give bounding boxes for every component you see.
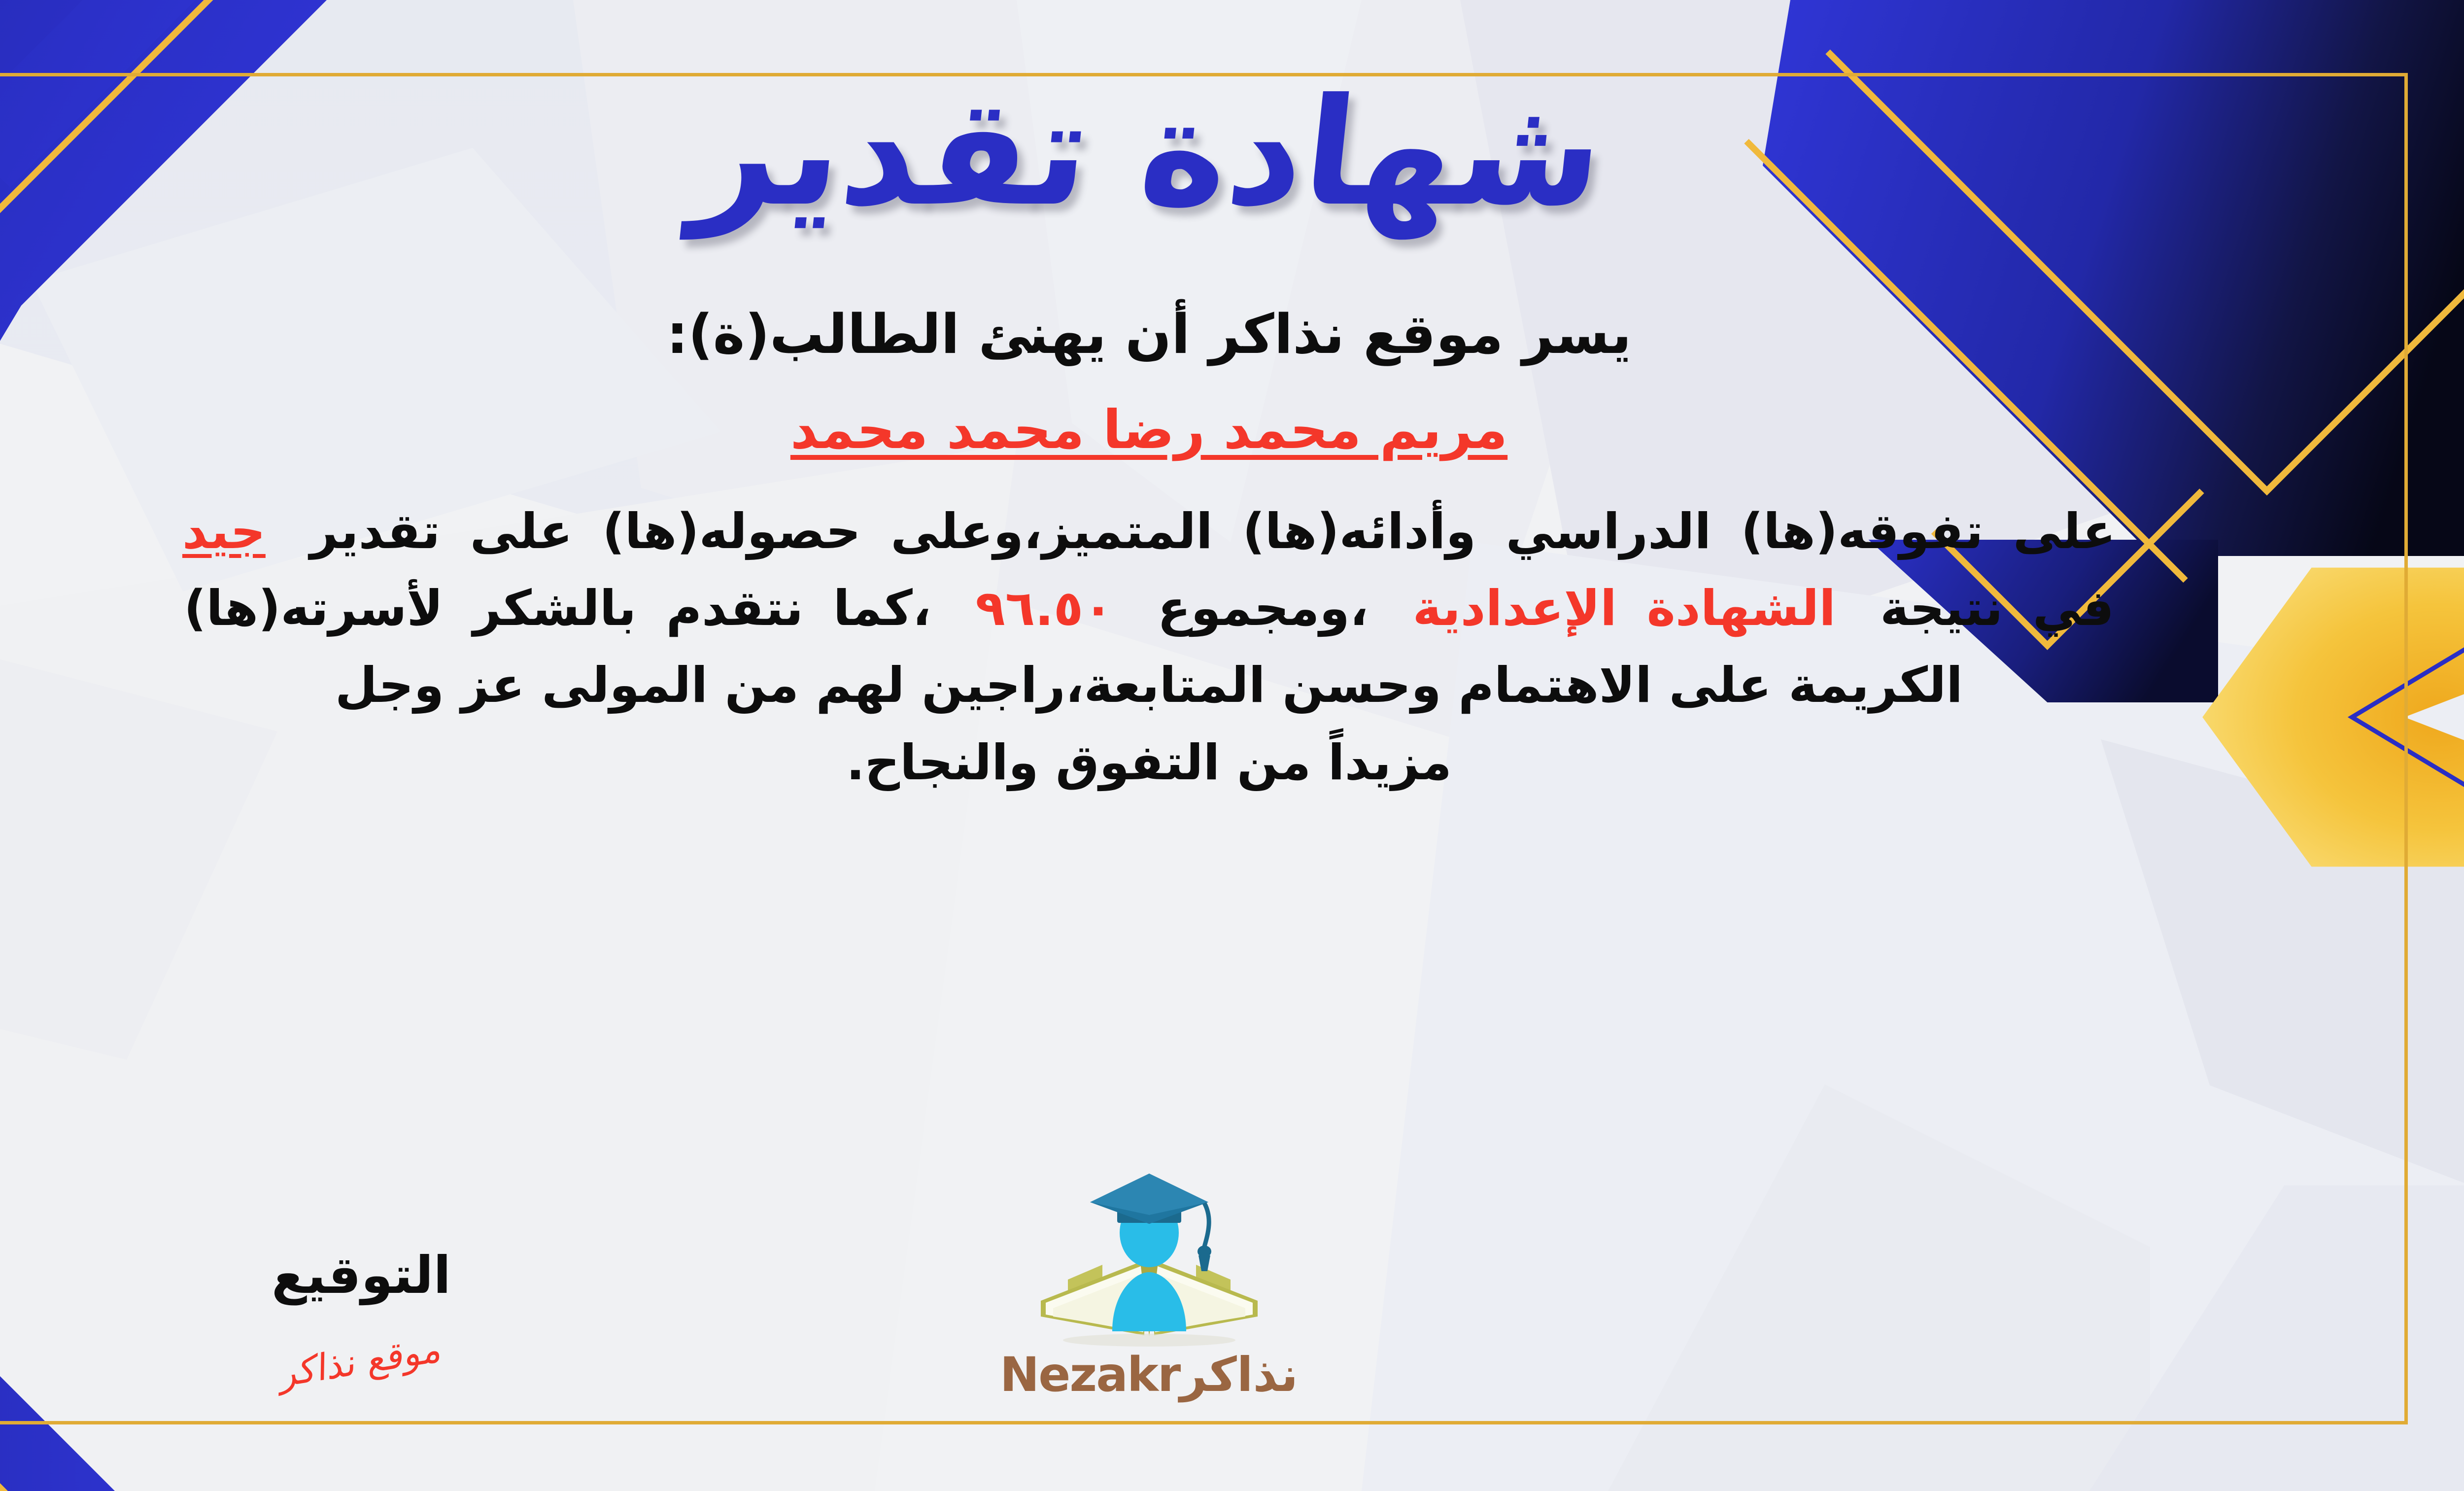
certificate-footer: التوقيع موقع نذاكر: [0, 1097, 2464, 1402]
logo-text-arabic: نذاكر: [1180, 1347, 1298, 1402]
body-line-2: في نتيجةالشهادة الإعدادية،ومجموع٩٦.٥٠،كم…: [0, 570, 2317, 647]
intro-line: يسر موقع نذاكر أن يهنئ الطالب(ة):: [666, 301, 1631, 369]
body-line-1: على تفوقه(ها) الدراسي وأدائه(ها) المتميز…: [0, 493, 2317, 570]
title-container: شهادة تقدير: [695, 54, 1603, 251]
student-name: مريم محمد رضا محمد محمد: [790, 399, 1507, 461]
result-prefix: في نتيجة: [1880, 580, 2114, 637]
certificate-canvas: شهادة تقدير يسر موقع نذاكر أن يهنئ الطال…: [0, 0, 2464, 1491]
signature-block: التوقيع موقع نذاكر: [208, 1249, 514, 1383]
total-label: ،ومجموع: [1158, 580, 1369, 637]
score-value: ٩٦.٥٠: [975, 580, 1113, 637]
thanks-clause: ،كما نتقدم بالشكر لأسرته(ها): [184, 580, 931, 637]
body-paragraph: على تفوقه(ها) الدراسي وأدائه(ها) المتميز…: [0, 493, 2381, 802]
graduation-book-logo-icon: [1011, 1169, 1287, 1356]
body-line-3: الكريمة على الاهتمام وحسن المتابعة،راجين…: [0, 647, 2317, 724]
certificate-title: شهادة تقدير: [687, 79, 1611, 227]
body-line-4: مزيداً من التفوق والنجاح.: [0, 725, 2317, 801]
certificate-content: شهادة تقدير يسر موقع نذاكر أن يهنئ الطال…: [0, 0, 2464, 1491]
signature-script: موقع نذاكر: [280, 1327, 443, 1395]
certificate-name: الشهادة الإعدادية: [1413, 580, 1836, 637]
signature-label: التوقيع: [208, 1249, 514, 1301]
logo-wordmark: نذاكرNezakr: [947, 1347, 1351, 1402]
brand-logo: نذاكرNezakr: [947, 1169, 1351, 1402]
logo-text-latin: Nezakr: [1000, 1347, 1180, 1402]
body-line-1-text: على تفوقه(ها) الدراسي وأدائه(ها) المتميز…: [310, 503, 2116, 560]
grade-value: جيد: [182, 503, 266, 560]
